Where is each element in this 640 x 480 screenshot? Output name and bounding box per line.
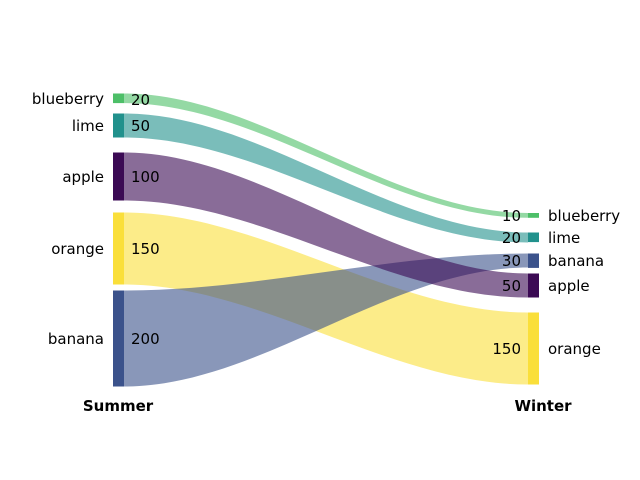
node-value-right-apple: 50 [502,277,521,295]
node-label-left-blueberry: blueberry [32,90,104,108]
node-value-left-orange: 150 [131,240,160,258]
node-value-left-apple: 100 [131,168,160,186]
axis-label-winter: Winter [514,397,572,415]
right-node-labels: blueberry lime banana apple orange [548,207,620,358]
node-label-right-orange: orange [548,340,601,358]
sankey-figure: blueberry lime apple orange banana 20 50… [0,0,640,480]
left-node-labels: blueberry lime apple orange banana [32,90,104,348]
node-bar-left-apple[interactable] [113,153,124,201]
node-bar-left-orange[interactable] [113,213,124,285]
node-value-right-lime: 20 [502,229,521,247]
sankey-canvas: blueberry lime apple orange banana 20 50… [0,0,640,480]
node-bar-right-blueberry[interactable] [528,213,539,218]
node-label-right-apple: apple [548,277,590,295]
node-bar-right-orange[interactable] [528,313,539,385]
flow-layer [124,94,528,387]
node-label-right-blueberry: blueberry [548,207,620,225]
node-value-right-blueberry: 10 [502,207,521,225]
axis-label-summer: Summer [83,397,154,415]
node-value-left-lime: 50 [131,117,150,135]
node-value-right-orange: 150 [492,340,521,358]
node-bar-right-apple[interactable] [528,274,539,298]
node-label-right-lime: lime [548,229,580,247]
left-node-bars [113,94,124,387]
node-bar-right-lime[interactable] [528,233,539,243]
node-value-left-banana: 200 [131,330,160,348]
right-node-bars [528,213,539,385]
node-bar-left-blueberry[interactable] [113,94,124,104]
node-label-right-banana: banana [548,252,604,270]
node-label-left-apple: apple [62,168,104,186]
node-value-right-banana: 30 [502,252,521,270]
node-bar-right-banana[interactable] [528,254,539,268]
stage-axis-labels: Summer Winter [83,397,572,415]
node-bar-left-banana[interactable] [113,291,124,387]
node-bar-left-lime[interactable] [113,114,124,138]
node-label-left-banana: banana [48,330,104,348]
node-value-left-blueberry: 20 [131,91,150,109]
node-label-left-lime: lime [72,117,104,135]
node-label-left-orange: orange [51,240,104,258]
